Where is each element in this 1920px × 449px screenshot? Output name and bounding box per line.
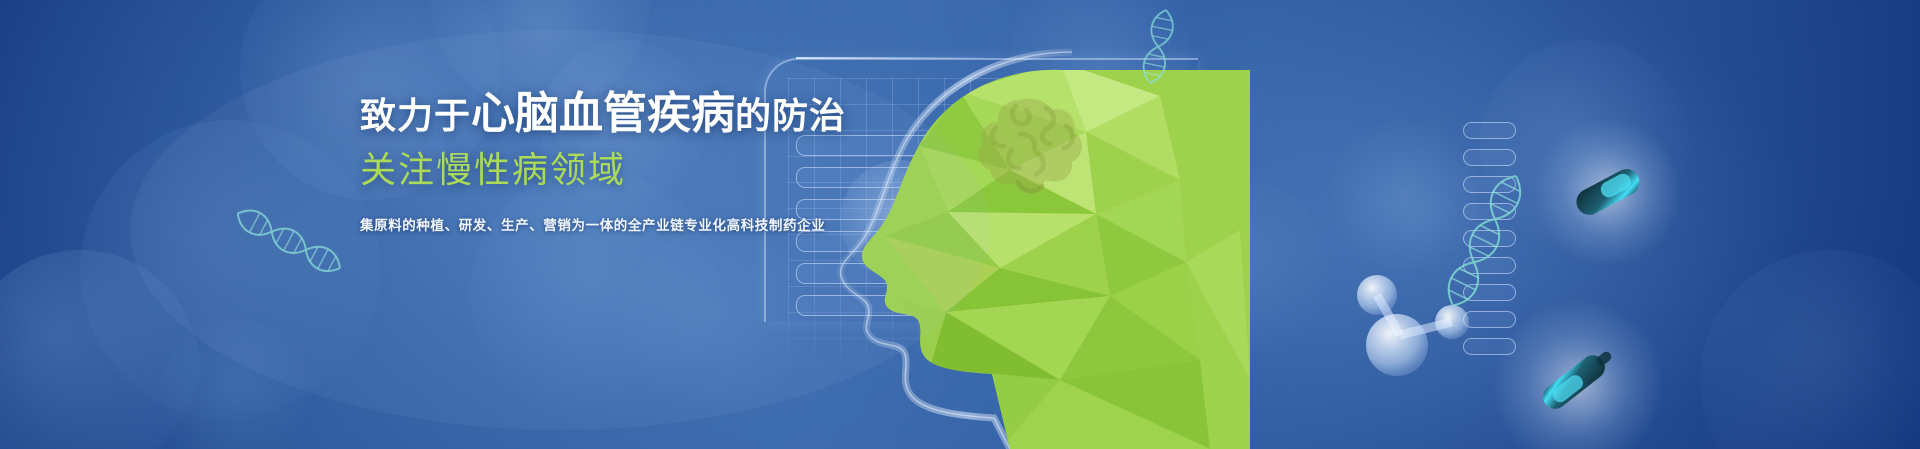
headline-emphasis: 心脑血管疾病: [471, 89, 735, 138]
hud-bar: [1463, 338, 1516, 355]
headline-prefix: 致力于: [360, 95, 471, 136]
hud-bar: [1463, 149, 1516, 166]
bacteria-cell-icon: [1492, 299, 1664, 449]
hud-bar: [1463, 203, 1516, 220]
hud-bar: [796, 199, 939, 220]
bacteria-cell-icon: [1534, 118, 1682, 266]
hud-bar: [1463, 176, 1516, 193]
bokeh-circle: [1700, 250, 1920, 449]
banner-copy: 致力于心脑血管疾病的防治 关注慢性病领域 集原料的种植、研发、生产、营销为一体的…: [360, 92, 790, 234]
hud-bar: [796, 263, 939, 284]
dna-helix-icon: [232, 204, 345, 278]
headline-suffix: 的防治: [735, 95, 846, 136]
hud-bar: [1463, 122, 1516, 139]
hud-top-line: [796, 57, 986, 59]
hud-bar: [1463, 230, 1516, 247]
hud-bar: [1463, 284, 1516, 301]
bokeh-circle: [80, 120, 380, 420]
banner-headline: 致力于心脑血管疾病的防治: [360, 92, 790, 136]
bokeh-circle: [1330, 120, 1480, 270]
hud-bar: [796, 135, 939, 156]
bokeh-circle: [0, 250, 200, 449]
bokeh-circle: [160, 320, 310, 449]
hud-bar: [796, 295, 939, 316]
hud-bar-stack-right: [1463, 122, 1516, 365]
hud-bar: [796, 231, 939, 252]
banner-tagline: 集原料的种植、研发、生产、营销为一体的全产业链专业化高科技制药企业: [360, 214, 790, 234]
hud-bar: [1463, 257, 1516, 274]
molecule-icon: [1357, 275, 1469, 376]
banner-subtitle: 关注慢性病领域: [360, 152, 790, 188]
hero-banner: 致力于心脑血管疾病的防治 关注慢性病领域 集原料的种植、研发、生产、营销为一体的…: [0, 0, 1920, 449]
hud-bar: [1463, 311, 1516, 328]
hud-bar: [796, 167, 939, 188]
